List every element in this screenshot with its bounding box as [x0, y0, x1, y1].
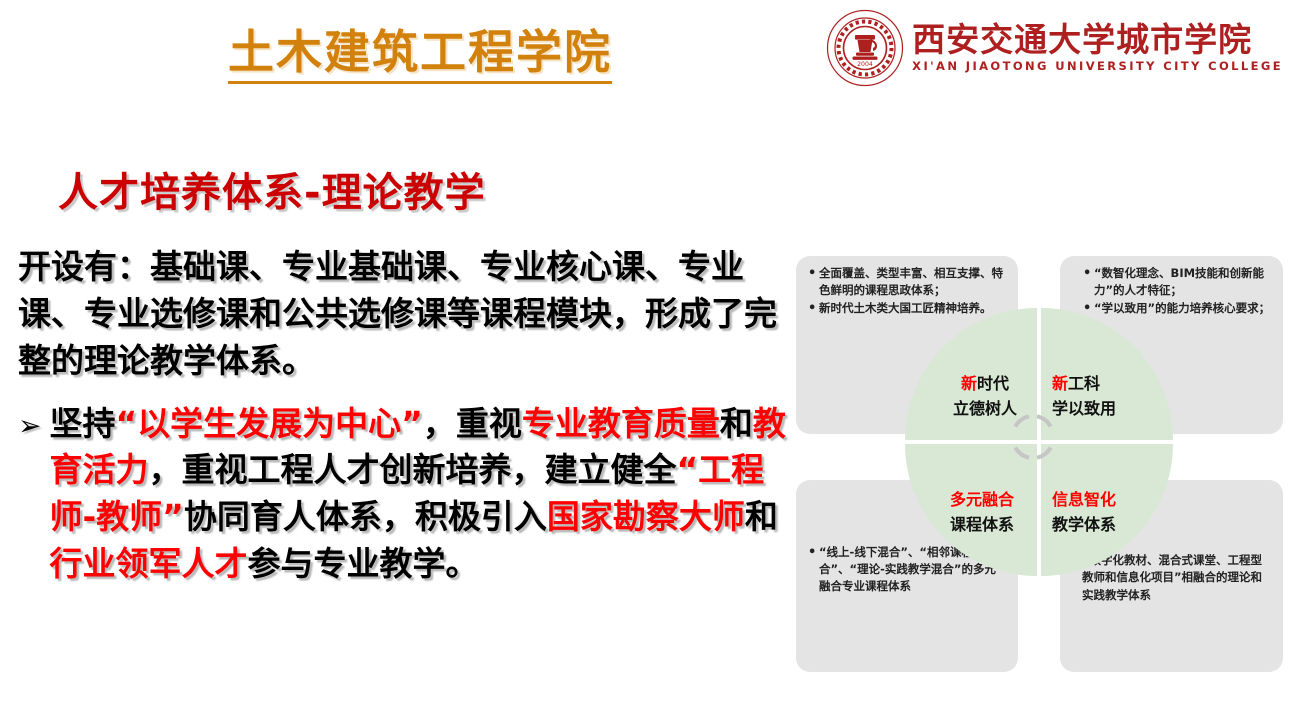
petal-label-bottom-left: 多元融合 课程体系	[950, 488, 1014, 538]
plain-phrase: ，重视工程人才创新培养，建立健全	[148, 450, 676, 489]
plain-phrase: ，重视	[423, 404, 522, 443]
brand-name-en: XI'AN JIAOTONG UNIVERSITY CITY COLLEGE	[912, 61, 1283, 73]
page-title-text: 土木建筑工程学院	[228, 25, 612, 84]
intro-paragraph: 开设有：基础课、专业基础课、专业核心课、专业课、专业选修课和公共选修课等课程模块…	[18, 244, 808, 385]
petal-label-accent: 多元融合	[950, 490, 1014, 509]
bullet-item: ➢ 坚持“以学生发展为中心”，重视专业教育质量和教育活力，重视工程人才创新培养，…	[18, 401, 808, 588]
petal-label-line2: 课程体系	[950, 513, 1014, 538]
training-system-diagram: 全面覆盖、类型丰富、相互支撑、特色鲜明的课程思政体系； 新时代土木类大国工匠精神…	[790, 252, 1287, 676]
list-item: “学以致用”的能力培养核心要求；	[1082, 300, 1272, 317]
highlighted-phrase: 国家勘察大师	[547, 497, 745, 536]
university-brand: 2004 西安交通大学城市学院 XI'AN JIAOTONG UNIVERSIT…	[826, 6, 1283, 90]
callout-list-top-left: 全面覆盖、类型丰富、相互支撑、特色鲜明的课程思政体系； 新时代土木类大国工匠精神…	[807, 265, 1007, 317]
bullet-paragraph: 坚持“以学生发展为中心”，重视专业教育质量和教育活力，重视工程人才创新培养，建立…	[49, 401, 808, 588]
seal-year: 2004	[857, 61, 873, 68]
callout-text-bottom-right: “数字化教材、混合式课堂、工程型教师和信息化项目”相融合的理论和实践教学体系	[1082, 552, 1272, 604]
petal-label-accent: 新	[1052, 374, 1068, 393]
highlighted-phrase: 行业领军人才	[49, 544, 247, 583]
plain-phrase: 协同育人体系，积极引入	[184, 497, 547, 536]
petal-label-line2: 学以致用	[1052, 397, 1116, 422]
petal-label-top-left: 新时代 立德树人	[953, 372, 1017, 422]
body-content: 开设有：基础课、专业基础课、专业核心课、专业课、专业选修课和公共选修课等课程模块…	[18, 244, 808, 588]
list-item: 新时代土木类大国工匠精神培养。	[807, 300, 1007, 317]
petal-label-bottom-right: 信息智化 教学体系	[1052, 488, 1116, 538]
petal-label-line2: 立德树人	[953, 397, 1017, 422]
petal-label-rest: 时代	[977, 374, 1009, 393]
petal-label-line2: 教学体系	[1052, 513, 1116, 538]
page-title: 土木建筑工程学院	[0, 16, 840, 82]
plain-phrase: 坚持	[49, 404, 115, 443]
section-subtitle: 人才培养体系-理论教学	[58, 160, 486, 218]
list-item: “数智化理念、BIM技能和创新能力”的人才特征；	[1082, 265, 1272, 299]
plain-phrase: 和	[720, 404, 753, 443]
petal-label-accent: 新	[961, 374, 977, 393]
brand-name-cn: 西安交通大学城市学院	[912, 23, 1283, 56]
callout-list-top-right: “数智化理念、BIM技能和创新能力”的人才特征； “学以致用”的能力培养核心要求…	[1082, 265, 1272, 317]
petal-label-accent: 信息智化	[1052, 490, 1116, 509]
plain-phrase: 参与专业教学。	[247, 544, 478, 583]
petal-label-rest: 工科	[1068, 374, 1100, 393]
highlighted-phrase: 专业教育质量	[522, 404, 720, 443]
list-item: 全面覆盖、类型丰富、相互支撑、特色鲜明的课程思政体系；	[807, 265, 1007, 299]
plain-phrase: 和	[745, 497, 778, 536]
petal-label-top-right: 新工科 学以致用	[1052, 372, 1116, 422]
arrow-bullet-icon: ➢	[18, 401, 41, 446]
highlighted-phrase: “以学生发展为中心”	[115, 404, 422, 443]
university-seal-icon: 2004	[826, 9, 904, 87]
